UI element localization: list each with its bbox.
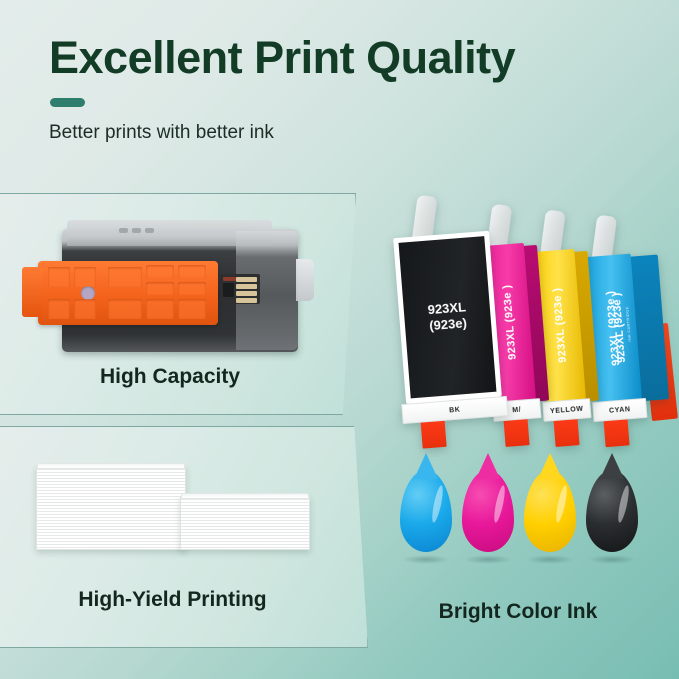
cartridge-orange-handle (38, 261, 218, 325)
header: Excellent Print Quality Better prints wi… (0, 0, 679, 175)
paper-stack-short (180, 496, 310, 550)
ink-drop-cyan-icon (400, 470, 452, 552)
base-text: M/ (512, 406, 522, 414)
ink-cartridge-black: 923XL (923e) BK (393, 231, 502, 404)
cartridge-label-black: 923XL (923e) (427, 300, 468, 335)
base-text: BK (449, 406, 461, 414)
ink-drop-black-icon (586, 470, 638, 552)
cartridge-wing (296, 259, 314, 301)
ink-drop-yellow-icon (524, 470, 576, 552)
paper-stack-tall (36, 466, 186, 550)
base-text: CYAN (609, 406, 631, 415)
label-line2: (923e) (428, 316, 467, 335)
ink-cartridge-cluster: 923XL (923e ) 923XL (923e ) INK CARTRIDG… (398, 196, 679, 424)
caption-high-capacity: High Capacity (0, 365, 340, 389)
ink-drop-group (400, 470, 640, 570)
caption-high-yield: High-Yield Printing (0, 588, 345, 612)
cartridge-front-face: 923XL (923e) (393, 231, 502, 404)
caption-bright-color-ink: Bright Color Ink (398, 600, 638, 624)
printer-cartridge-image (62, 229, 298, 352)
cartridge-base-label-yellow: YELLOW (542, 398, 591, 422)
base-text: YELLOW (550, 405, 584, 415)
ink-drop-magenta-icon (462, 470, 514, 552)
accent-dash (50, 98, 85, 107)
page-subtitle: Better prints with better ink (49, 122, 274, 144)
page-title: Excellent Print Quality (49, 35, 515, 80)
cartridge-base-label-cyan: CYAN (592, 398, 647, 422)
product-infographic: Excellent Print Quality Better prints wi… (0, 0, 679, 679)
cartridge-label-yellow: 923XL (923e ) (551, 287, 569, 363)
cartridge-chip-icon (220, 274, 260, 304)
cartridge-label-magenta: 923XL (923e ) (501, 284, 519, 360)
